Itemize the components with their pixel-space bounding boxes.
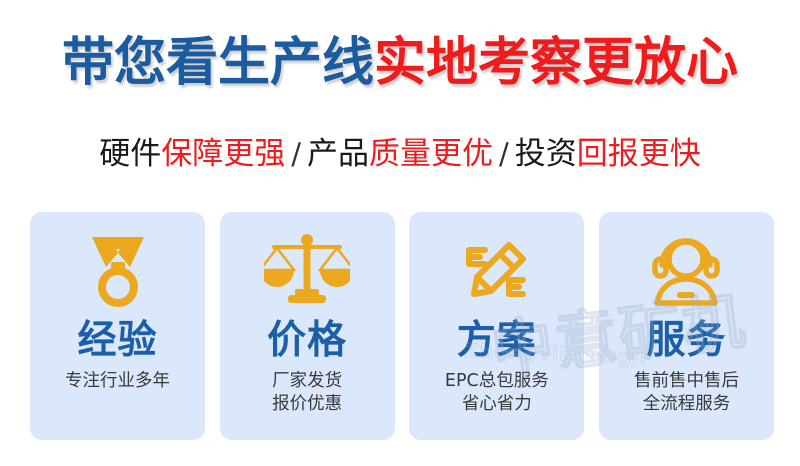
headline-blue-text: 带您看生产线 <box>62 33 374 93</box>
subtitle-separator-1: / <box>285 137 307 171</box>
card-description-line2: 全流程服务 <box>634 393 739 416</box>
feature-card-price[interactable]: 价格 厂家发货 报价优惠 <box>220 212 395 440</box>
subtitle: 硬件保障更强/产品质量更优/投资回报更快 <box>0 134 800 174</box>
card-description-line1: EPC总包服务 <box>445 370 549 393</box>
medal-icon <box>63 230 173 312</box>
card-description-line1: 厂家发货 <box>272 370 342 393</box>
card-description: 售前售中售后 全流程服务 <box>634 370 739 416</box>
card-title: 方案 <box>457 318 537 364</box>
balance-scales-icon <box>252 230 362 312</box>
subtitle-part1-red: 保障更强 <box>161 136 285 172</box>
card-title: 经验 <box>77 318 157 364</box>
subtitle-separator-2: / <box>493 137 515 171</box>
subtitle-part1-black: 硬件 <box>99 136 161 172</box>
subtitle-part3-black: 投资 <box>515 136 577 172</box>
subtitle-part2-black: 产品 <box>307 136 369 172</box>
page-title: 带您看生产线实地考察更放心 <box>0 33 800 93</box>
card-title: 服务 <box>646 318 726 364</box>
feature-card-solution[interactable]: 方案 EPC总包服务 省心省力 <box>409 212 584 440</box>
pencil-design-icon <box>442 230 552 312</box>
headline-red-text: 实地考察更放心 <box>374 33 738 93</box>
card-description: 厂家发货 报价优惠 <box>272 370 342 416</box>
card-description-line2: 报价优惠 <box>272 393 342 416</box>
card-description: EPC总包服务 省心省力 <box>445 370 549 416</box>
headset-support-icon <box>631 230 741 312</box>
subtitle-part3-red: 回报更快 <box>577 136 701 172</box>
card-description-line2: 省心省力 <box>445 393 549 416</box>
card-description-line1: 售前售中售后 <box>634 370 739 393</box>
card-description-line1: 专注行业多年 <box>65 370 170 393</box>
card-description: 专注行业多年 <box>65 370 170 393</box>
feature-card-service[interactable]: 服务 售前售中售后 全流程服务 <box>599 212 774 440</box>
promo-banner: 带您看生产线实地考察更放心 硬件保障更强/产品质量更优/投资回报更快 经验 专注… <box>0 0 800 466</box>
feature-card-list: 经验 专注行业多年 <box>30 212 774 440</box>
card-title: 价格 <box>267 318 347 364</box>
subtitle-part2-red: 质量更优 <box>369 136 493 172</box>
feature-card-experience[interactable]: 经验 专注行业多年 <box>30 212 205 440</box>
